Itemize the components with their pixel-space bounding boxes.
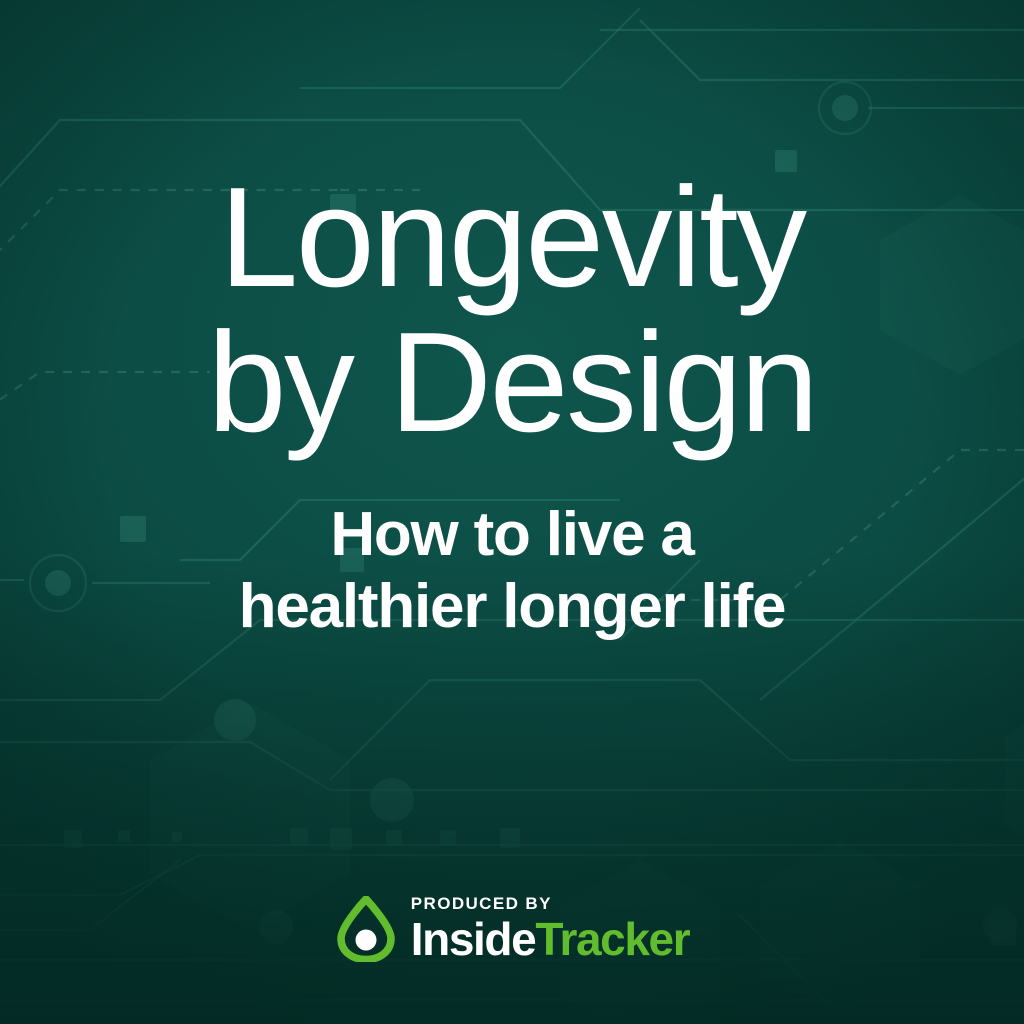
cover-content: Longevity by Design How to live a health… bbox=[0, 0, 1024, 1024]
produced-by-label: PRODUCED BY bbox=[411, 895, 689, 912]
title-line-2: by Design bbox=[0, 313, 1024, 454]
page-title: Longevity by Design bbox=[0, 168, 1024, 453]
brand-wordmark-tracker: Tracker bbox=[535, 913, 689, 965]
producer-logo-lockup: PRODUCED BY InsideTracker bbox=[0, 895, 1024, 962]
subtitle-line-1: How to live a bbox=[0, 499, 1024, 571]
droplet-logo-icon bbox=[335, 896, 397, 962]
subtitle-line-2: healthier longer life bbox=[0, 571, 1024, 643]
brand-wordmark-inside: Inside bbox=[411, 913, 536, 965]
brand-wordmark: InsideTracker bbox=[411, 916, 689, 962]
podcast-cover-art: .tr { fill:none; stroke:#2a7668; stroke-… bbox=[0, 0, 1024, 1024]
logo-text-stack: PRODUCED BY InsideTracker bbox=[411, 895, 689, 962]
page-subtitle: How to live a healthier longer life bbox=[0, 499, 1024, 643]
title-line-1: Longevity bbox=[0, 168, 1024, 309]
